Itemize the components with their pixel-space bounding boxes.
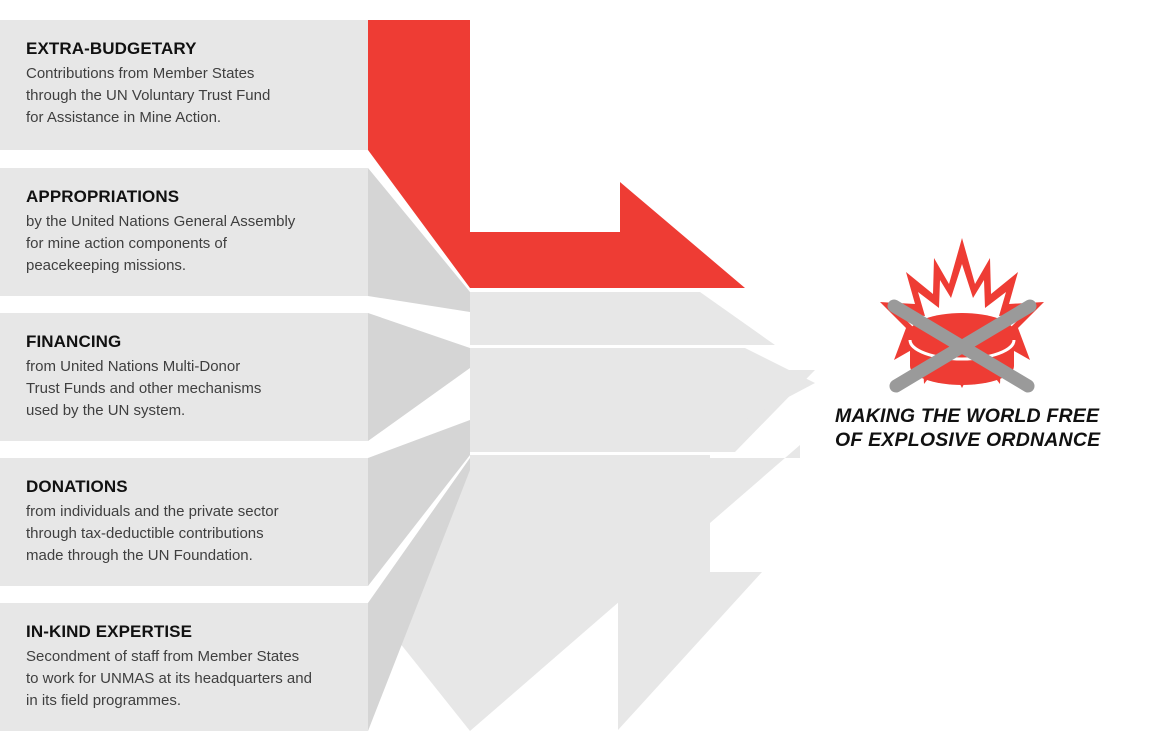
source-block-financing[interactable]: FINANCING from United Nations Multi-Dono… (0, 313, 368, 441)
source-block-appropriations[interactable]: APPROPRIATIONS by the United Nations Gen… (0, 168, 368, 296)
flow-band-financing (470, 348, 815, 420)
source-title: DONATIONS (26, 476, 342, 498)
source-block-in-kind-expertise[interactable]: IN-KIND EXPERTISE Secondment of staff fr… (0, 603, 368, 731)
flow-band-in-kind-expertise (368, 445, 800, 731)
source-block-extra-budgetary[interactable]: EXTRA-BUDGETARY Contributions from Membe… (0, 20, 368, 150)
flow-arrow-wing-bottom (470, 455, 762, 730)
source-title: EXTRA-BUDGETARY (26, 38, 342, 60)
funnel-face-bottom (368, 458, 470, 731)
funnel-face-lower-mid (368, 420, 470, 586)
outcome-tagline: MAKING THE WORLD FREE OF EXPLOSIVE ORDNA… (835, 404, 1120, 452)
source-title: FINANCING (26, 331, 342, 353)
flow-band-extra-budgetary-red (368, 20, 745, 288)
funnel-face-upper-mid (368, 313, 470, 441)
funding-flow-infographic: EXTRA-BUDGETARY Contributions from Membe… (0, 0, 1160, 750)
source-description: from United Nations Multi-Donor Trust Fu… (26, 356, 342, 422)
source-description: Secondment of staff from Member States t… (26, 646, 342, 712)
source-title: APPROPRIATIONS (26, 186, 342, 208)
funnel-face-top (368, 168, 470, 312)
flow-band-donations (470, 370, 815, 452)
outcome-group: MAKING THE WORLD FREE OF EXPLOSIVE ORDNA… (830, 236, 1120, 451)
source-description: from individuals and the private sector … (26, 501, 342, 567)
source-block-donations[interactable]: DONATIONS from individuals and the priva… (0, 458, 368, 586)
source-description: by the United Nations General Assembly f… (26, 211, 342, 277)
source-title: IN-KIND EXPERTISE (26, 621, 342, 643)
source-description: Contributions from Member States through… (26, 63, 342, 129)
flow-band-appropriations (470, 292, 775, 345)
unmas-explosive-ordnance-logo-icon (878, 236, 1046, 396)
